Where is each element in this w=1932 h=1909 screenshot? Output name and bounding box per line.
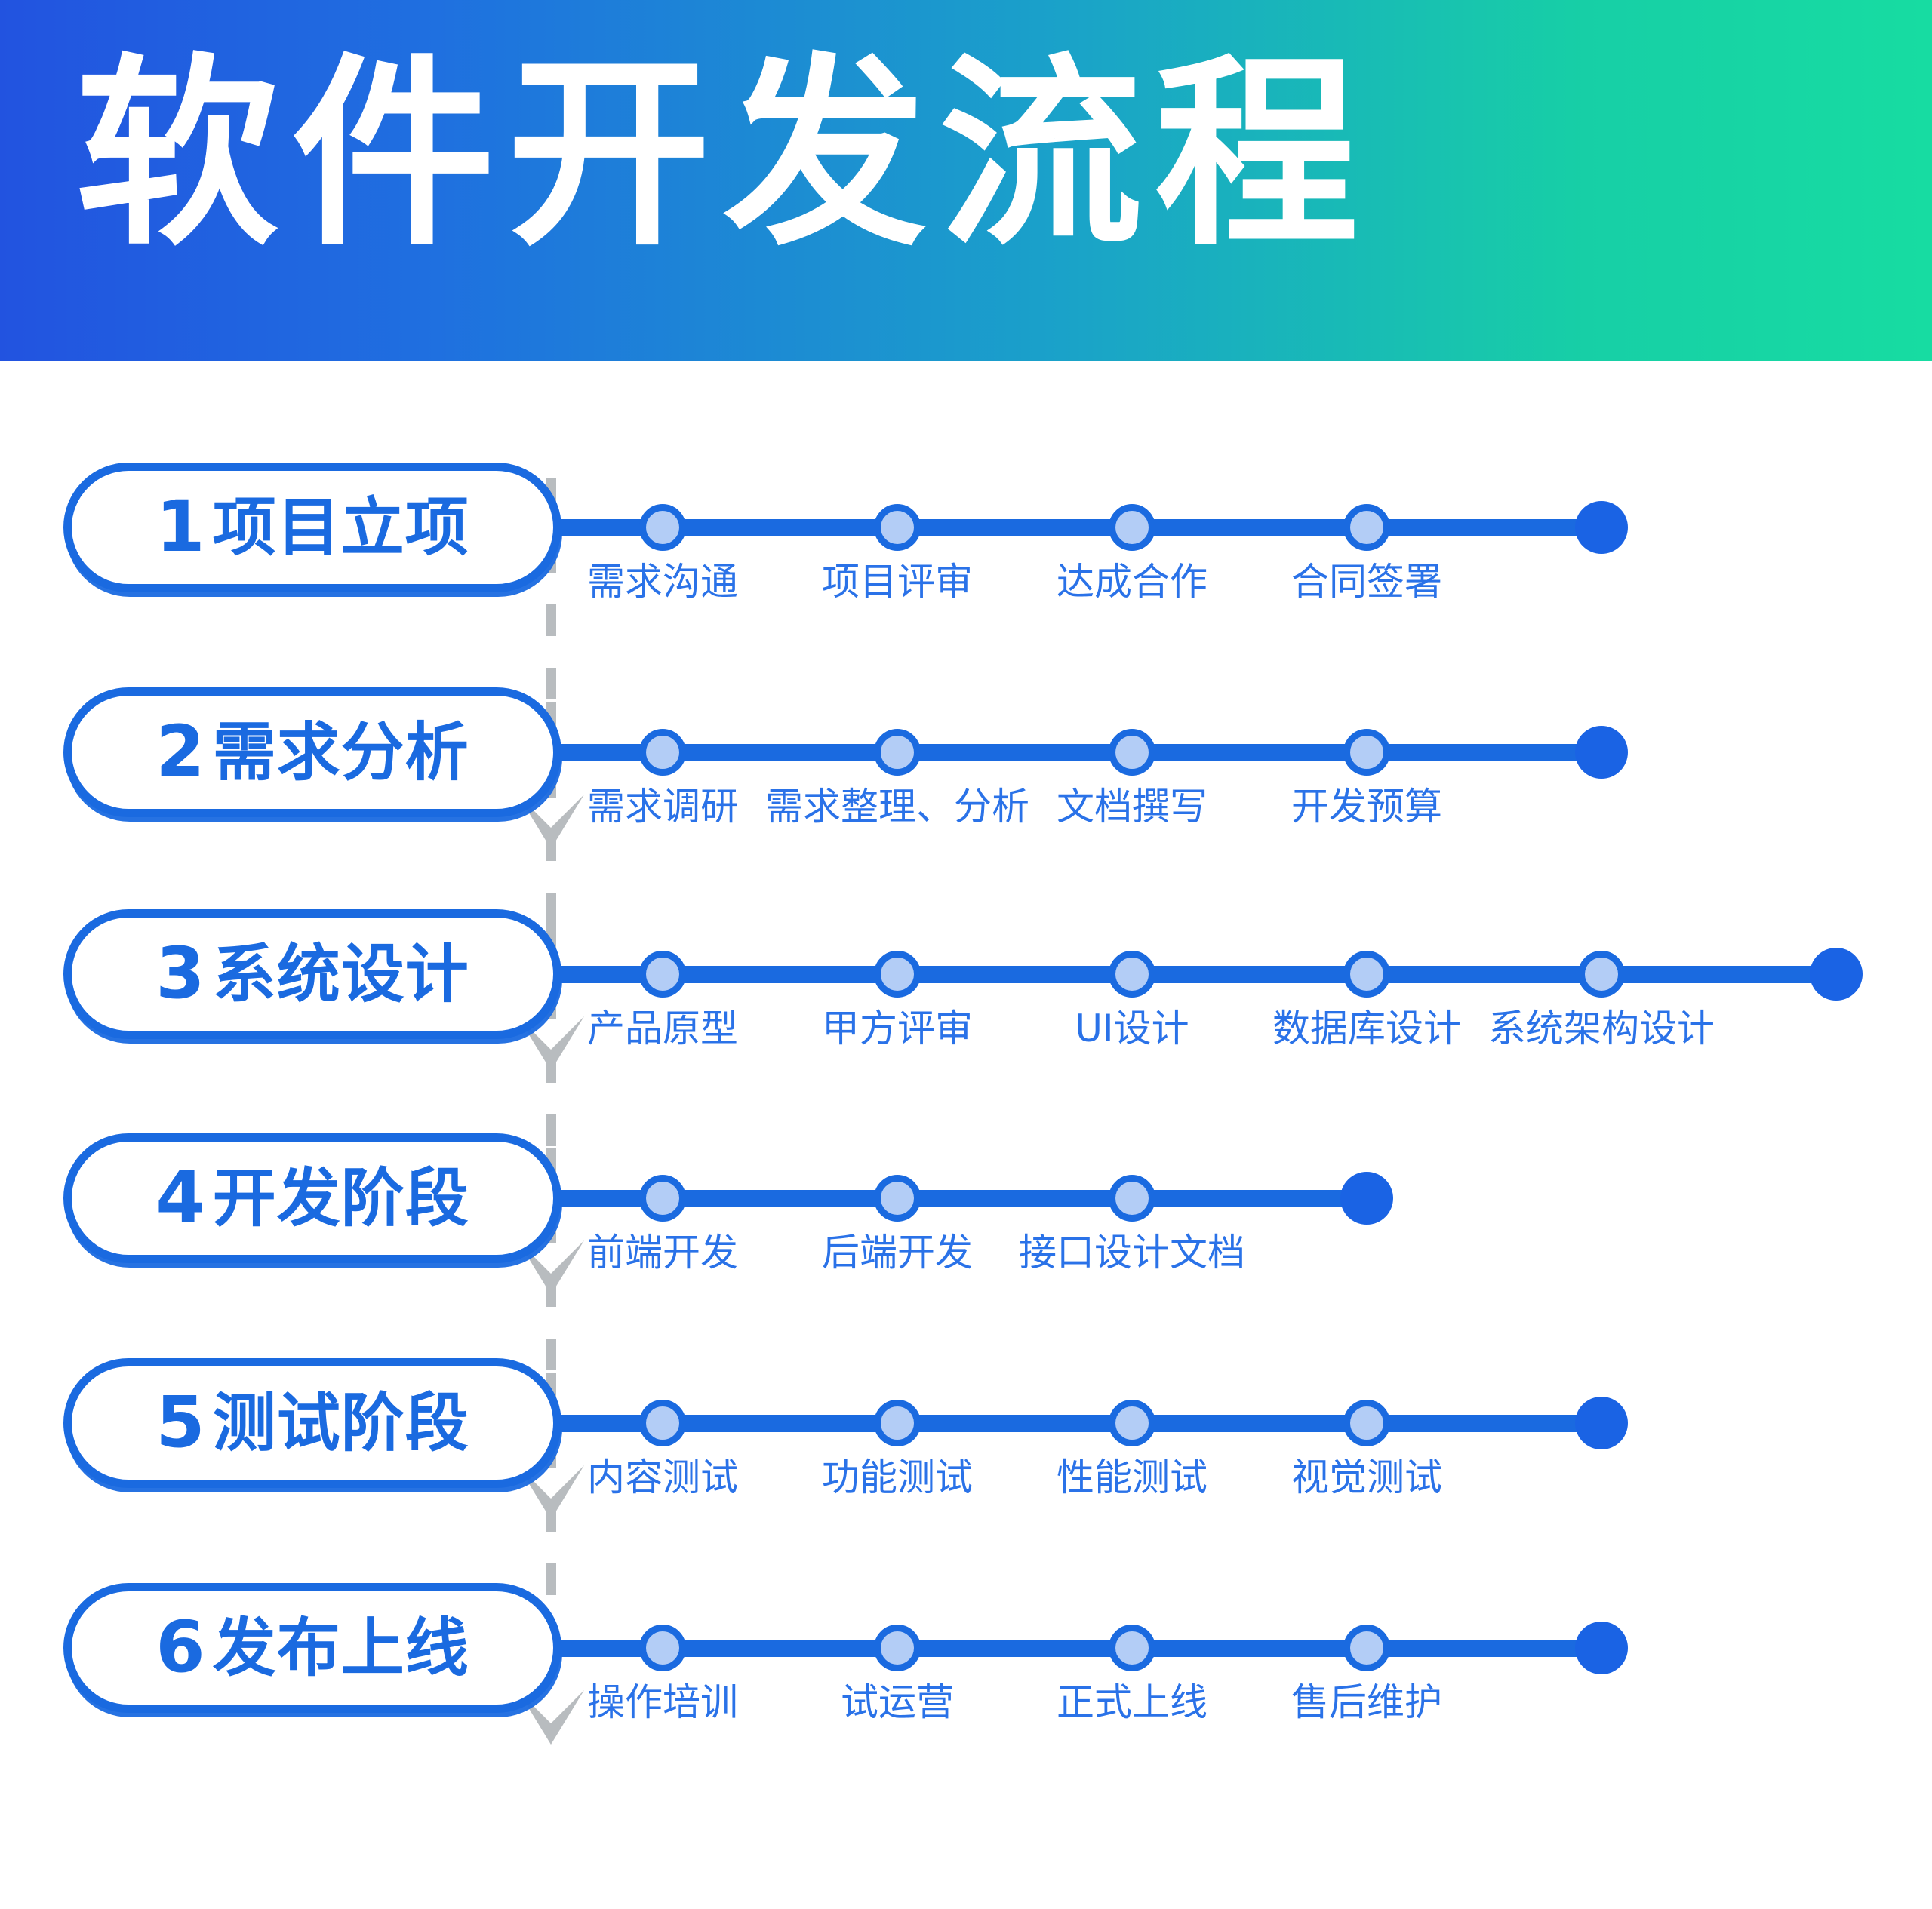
timeline-node[interactable] xyxy=(874,729,921,776)
timeline-node[interactable] xyxy=(1109,1175,1155,1222)
stage-number: 4 xyxy=(155,1163,205,1234)
stage-number: 6 xyxy=(155,1612,205,1683)
timeline-track-6 xyxy=(558,1640,1601,1657)
timeline-node[interactable] xyxy=(1109,504,1155,551)
timeline-node[interactable] xyxy=(639,729,686,776)
timeline-node[interactable] xyxy=(874,951,921,998)
timeline-node[interactable] xyxy=(874,1400,921,1446)
timeline-node[interactable] xyxy=(639,951,686,998)
stage-name: 开发阶段 xyxy=(213,1167,469,1230)
stage-pill-4[interactable]: 4开发阶段 xyxy=(63,1133,561,1263)
timeline-end-node xyxy=(1810,948,1863,1001)
timeline-node[interactable] xyxy=(639,504,686,551)
timeline-node[interactable] xyxy=(639,1175,686,1222)
stage-pill-1[interactable]: 1项目立项 xyxy=(63,463,561,592)
stage-pill-3[interactable]: 3系统设计 xyxy=(63,909,561,1039)
timeline-node[interactable] xyxy=(1343,729,1390,776)
timeline-track-2 xyxy=(558,744,1601,761)
timeline-track-1 xyxy=(558,519,1601,536)
page-title: 软件开发流程 xyxy=(75,27,1371,282)
timeline-node-label: 开发预算 xyxy=(1178,788,1555,825)
stage-number: 5 xyxy=(155,1388,205,1459)
stage-number: 3 xyxy=(155,939,205,1010)
stage-name: 项目立项 xyxy=(213,496,469,559)
timeline-node[interactable] xyxy=(1109,729,1155,776)
timeline-node[interactable] xyxy=(1343,1625,1390,1671)
timeline-node-label: 售后维护 xyxy=(1178,1683,1555,1721)
timeline-node[interactable] xyxy=(1109,1400,1155,1446)
timeline-node-label: 接口设计文档 xyxy=(943,1234,1321,1271)
stage-name: 需求分析 xyxy=(213,721,469,784)
stage-pill-2[interactable]: 2需求分析 xyxy=(63,687,561,817)
timeline-node[interactable] xyxy=(1109,1625,1155,1671)
timeline-end-node xyxy=(1575,726,1628,779)
timeline-node[interactable] xyxy=(1343,1400,1390,1446)
timeline-node[interactable] xyxy=(1343,951,1390,998)
timeline-end-node xyxy=(1340,1172,1393,1225)
timeline-node[interactable] xyxy=(874,1625,921,1671)
stage-number: 2 xyxy=(155,717,205,788)
timeline-node[interactable] xyxy=(1578,951,1625,998)
timeline-end-node xyxy=(1575,1622,1628,1674)
stage-pill-6[interactable]: 6发布上线 xyxy=(63,1583,561,1713)
timeline-node[interactable] xyxy=(1343,504,1390,551)
timeline-track-5 xyxy=(558,1415,1601,1432)
stage-name: 测试阶段 xyxy=(213,1391,469,1455)
timeline-node[interactable] xyxy=(874,504,921,551)
timeline-end-node xyxy=(1575,1397,1628,1449)
timeline-node[interactable] xyxy=(639,1625,686,1671)
timeline-track-3 xyxy=(558,966,1836,983)
header-banner: 软件开发流程 xyxy=(0,0,1932,361)
timeline-node[interactable] xyxy=(874,1175,921,1222)
timeline-node-label: 视觉测试 xyxy=(1178,1459,1555,1496)
timeline-node-label: 系统架构设计 xyxy=(1413,1010,1790,1047)
timeline-end-node xyxy=(1575,501,1628,554)
stage-name: 系统设计 xyxy=(213,942,469,1006)
timeline-node[interactable] xyxy=(639,1400,686,1446)
flow-diagram: 1项目立项需求沟通项目评审达成合作合同签署2需求分析需求调研需求整理、分析文档撰… xyxy=(0,361,1932,1909)
stage-pill-5[interactable]: 5测试阶段 xyxy=(63,1358,561,1488)
timeline-node-label: 合同签署 xyxy=(1178,563,1555,601)
timeline-node[interactable] xyxy=(1109,951,1155,998)
stage-name: 发布上线 xyxy=(213,1616,469,1680)
stage-number: 1 xyxy=(155,492,205,563)
